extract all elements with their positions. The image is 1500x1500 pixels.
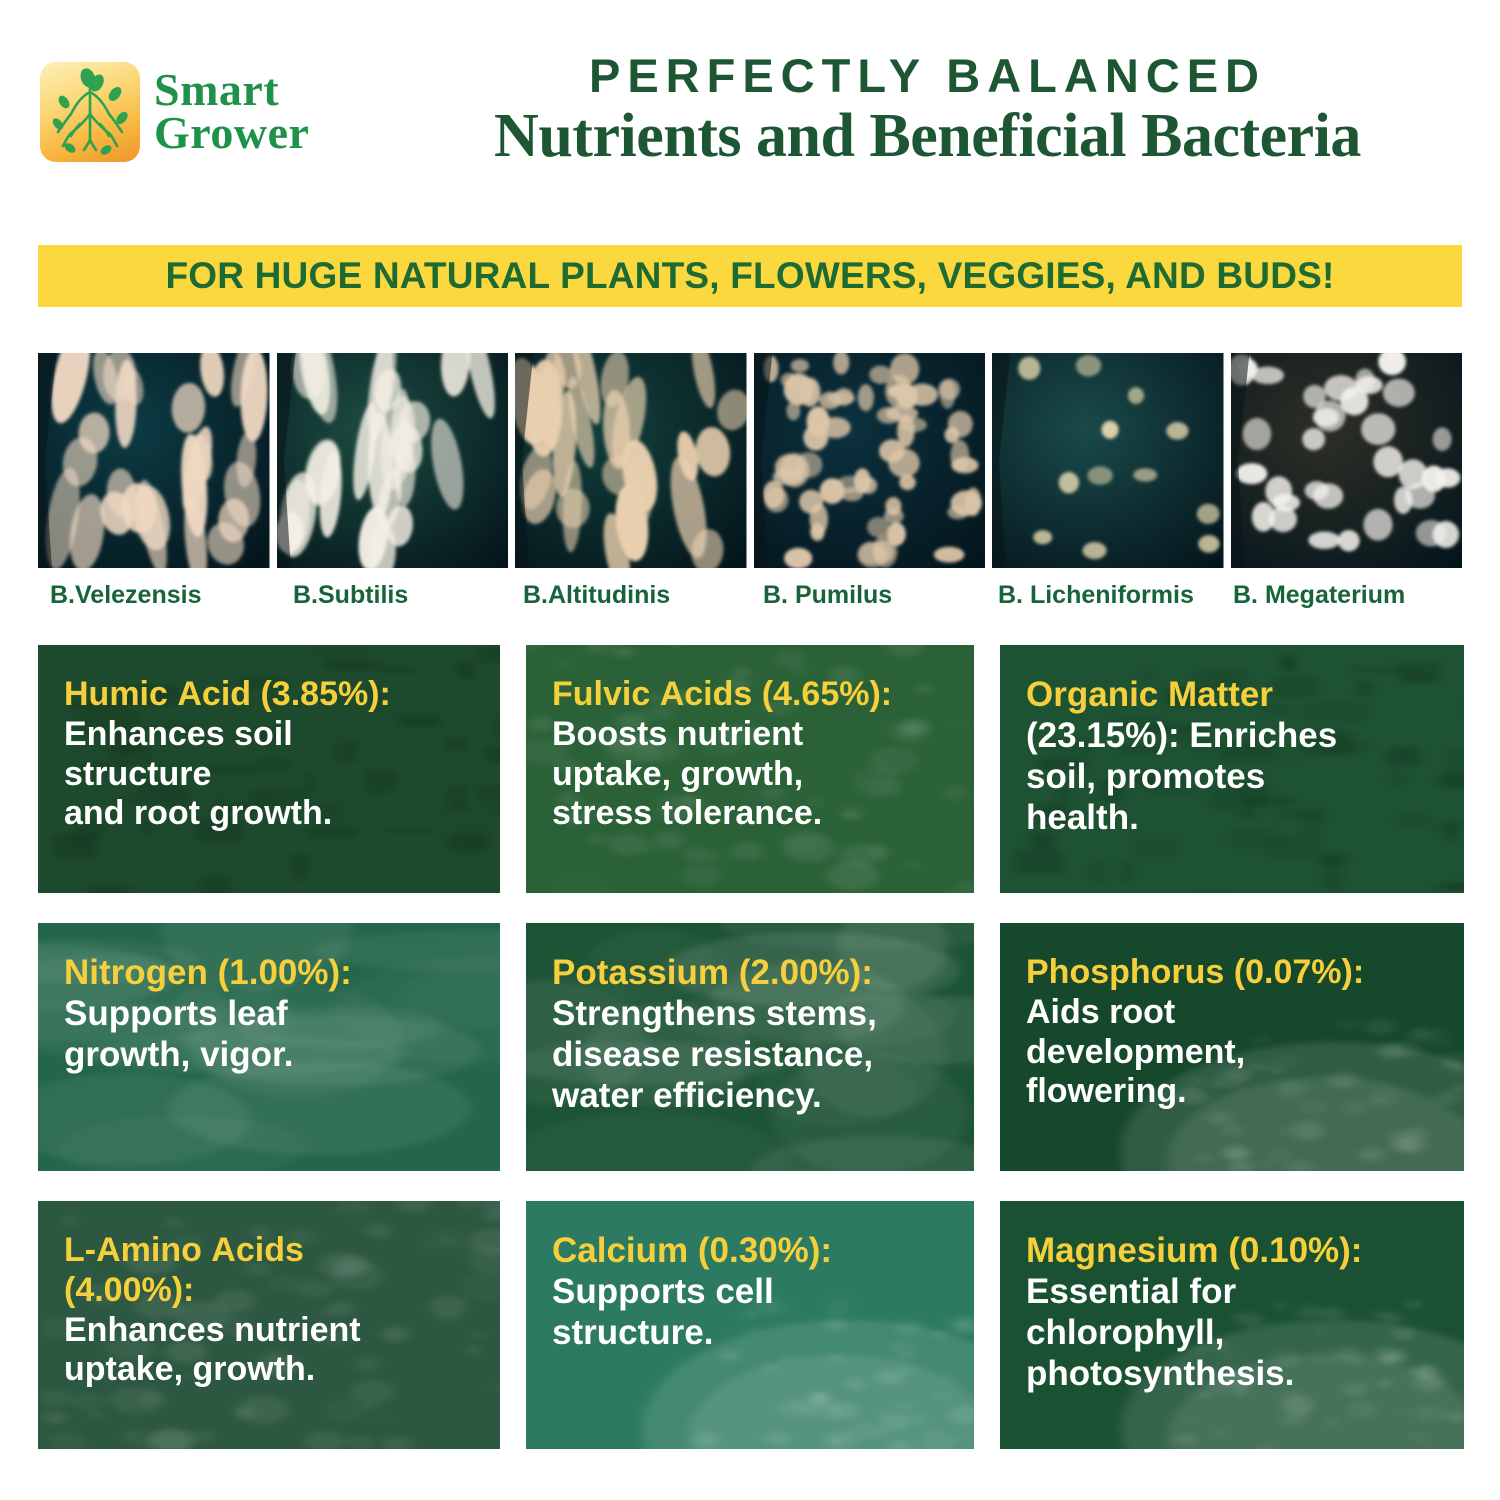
nutrient-card-body: Boosts nutrientuptake, growth,stress tol… xyxy=(552,715,948,834)
nutrient-card-body: Enhances nutrientuptake, growth. xyxy=(64,1311,474,1391)
bacteria-strain-label: B. Licheniformis xyxy=(998,581,1194,610)
nutrient-card-body: Essential forchlorophyll,photosynthesis. xyxy=(1026,1272,1438,1395)
brand-wordmark: Smart Grower xyxy=(154,71,309,152)
nutrient-card-body: Supports cellstructure. xyxy=(552,1272,948,1354)
header-kicker: PERFECTLY BALANCED xyxy=(385,52,1470,99)
nutrient-card-body: Supports leafgrowth, vigor. xyxy=(64,994,474,1076)
bacteria-strain-label: B.Subtilis xyxy=(293,581,408,610)
nutrient-card-grid: Humic Acid (3.85%):Enhances soilstructur… xyxy=(38,645,1462,1449)
bacteria-strain-label: B.Velezensis xyxy=(50,581,201,610)
plant-roots-icon xyxy=(40,62,140,162)
brand-name-line2: Grower xyxy=(154,114,309,153)
nutrient-card-title: Magnesium (0.10%): xyxy=(1026,1231,1438,1272)
nutrient-card-copy: Potassium (2.00%):Strengthens stems,dise… xyxy=(552,953,948,1117)
bacteria-strain-label: B.Altitudinis xyxy=(523,581,670,610)
nutrient-card-body: (23.15%): Enrichessoil, promoteshealth. xyxy=(1026,716,1438,839)
nutrient-card-copy: Magnesium (0.10%):Essential forchlorophy… xyxy=(1026,1231,1438,1395)
infographic-page: Smart Grower PERFECTLY BALANCED Nutrient… xyxy=(0,0,1500,1500)
nutrient-card-title: Calcium (0.30%): xyxy=(552,1231,948,1272)
nutrient-card-body: Enhances soilstructureand root growth. xyxy=(64,715,474,834)
nutrient-card-copy: Humic Acid (3.85%):Enhances soilstructur… xyxy=(64,675,474,834)
bacteria-photo xyxy=(754,353,986,568)
nutrient-card-title: L-Amino Acids(4.00%): xyxy=(64,1231,474,1311)
page-header: Smart Grower PERFECTLY BALANCED Nutrient… xyxy=(0,0,1500,205)
nutrient-card-copy: Phosphorus (0.07%):Aids rootdevelopment,… xyxy=(1026,953,1438,1112)
nutrient-card-title: Phosphorus (0.07%): xyxy=(1026,953,1438,993)
bacteria-photo xyxy=(992,353,1224,568)
nutrient-card: Organic Matter(23.15%): Enrichessoil, pr… xyxy=(1000,645,1464,893)
nutrient-card-title: Humic Acid (3.85%): xyxy=(64,675,474,715)
bacteria-photo xyxy=(515,353,747,568)
nutrient-card-copy: Nitrogen (1.00%):Supports leafgrowth, vi… xyxy=(64,953,474,1076)
page-title: Nutrients and Beneficial Bacteria xyxy=(385,104,1470,169)
nutrient-card-title: Nitrogen (1.00%): xyxy=(64,953,474,994)
bacteria-label-row: B.VelezensisB.SubtilisB.AltitudinisB. Pu… xyxy=(38,581,1462,615)
brand-logo: Smart Grower xyxy=(40,62,309,162)
nutrient-card-title: Potassium (2.00%): xyxy=(552,953,948,994)
nutrient-card: Nitrogen (1.00%):Supports leafgrowth, vi… xyxy=(38,923,500,1171)
bacteria-photo xyxy=(38,353,270,568)
nutrient-card-title: Organic Matter xyxy=(1026,675,1438,716)
nutrient-card: Calcium (0.30%):Supports cellstructure. xyxy=(526,1201,974,1449)
brand-name-line1: Smart xyxy=(154,71,309,110)
nutrient-card-title: Fulvic Acids (4.65%): xyxy=(552,675,948,715)
nutrient-card: Magnesium (0.10%):Essential forchlorophy… xyxy=(1000,1201,1464,1449)
banner-text: FOR HUGE NATURAL PLANTS, FLOWERS, VEGGIE… xyxy=(165,255,1334,297)
nutrient-card: Fulvic Acids (4.65%):Boosts nutrientupta… xyxy=(526,645,974,893)
nutrient-card-body: Strengthens stems,disease resistance,wat… xyxy=(552,994,948,1117)
highlight-banner: FOR HUGE NATURAL PLANTS, FLOWERS, VEGGIE… xyxy=(38,245,1462,307)
nutrient-card-copy: L-Amino Acids(4.00%):Enhances nutrientup… xyxy=(64,1231,474,1390)
bacteria-strain-label: B. Megaterium xyxy=(1233,581,1405,610)
nutrient-card: Humic Acid (3.85%):Enhances soilstructur… xyxy=(38,645,500,893)
nutrient-card-body: Aids rootdevelopment,flowering. xyxy=(1026,993,1438,1112)
bacteria-image-strip xyxy=(38,353,1462,568)
bacteria-photo xyxy=(1231,353,1463,568)
bacteria-photo xyxy=(277,353,509,568)
bacteria-strain-label: B. Pumilus xyxy=(763,581,892,610)
nutrient-card-copy: Fulvic Acids (4.65%):Boosts nutrientupta… xyxy=(552,675,948,834)
nutrient-card: L-Amino Acids(4.00%):Enhances nutrientup… xyxy=(38,1201,500,1449)
header-title-block: PERFECTLY BALANCED Nutrients and Benefic… xyxy=(385,52,1470,169)
nutrient-card: Potassium (2.00%):Strengthens stems,dise… xyxy=(526,923,974,1171)
nutrient-card: Phosphorus (0.07%):Aids rootdevelopment,… xyxy=(1000,923,1464,1171)
nutrient-card-copy: Calcium (0.30%):Supports cellstructure. xyxy=(552,1231,948,1354)
nutrient-card-copy: Organic Matter(23.15%): Enrichessoil, pr… xyxy=(1026,675,1438,839)
